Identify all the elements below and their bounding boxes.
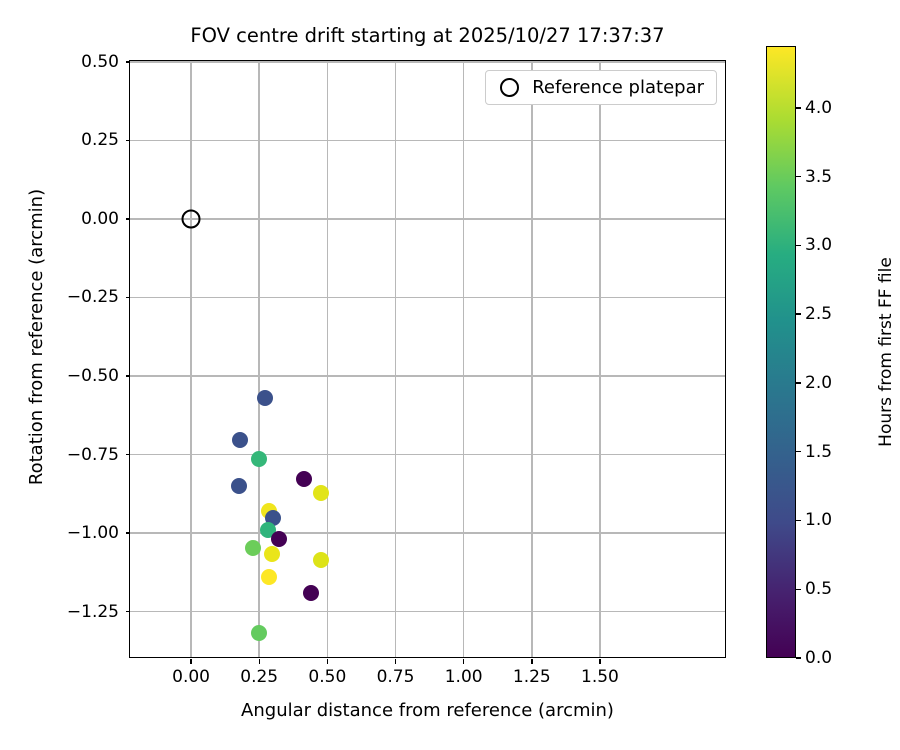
- gridline-vertical: [599, 61, 601, 657]
- gridline-vertical: [395, 61, 397, 657]
- y-tick-label: 0.50: [81, 52, 119, 72]
- colorbar-tick-label: 0.5: [805, 579, 832, 599]
- x-tick-label: 0.75: [377, 667, 415, 687]
- gridline-horizontal: [130, 532, 725, 534]
- colorbar-tick-label: 4.0: [805, 98, 832, 118]
- gridline-vertical: [463, 61, 465, 657]
- colorbar-tick-mark: [796, 313, 801, 314]
- colorbar-tick-mark: [796, 520, 801, 521]
- legend-item-label: Reference platepar: [532, 77, 704, 98]
- y-tick-mark: [126, 611, 131, 612]
- x-tick-label: 1.00: [445, 667, 483, 687]
- scatter-point: [261, 569, 277, 585]
- page-title: FOV centre drift starting at 2025/10/27 …: [129, 24, 726, 47]
- y-tick-label: −0.50: [67, 366, 119, 386]
- colorbar-tick-label: 0.0: [805, 648, 832, 668]
- gridline-vertical: [258, 61, 260, 657]
- figure-canvas: FOV centre drift starting at 2025/10/27 …: [0, 0, 900, 750]
- x-tick-label: 1.25: [513, 667, 551, 687]
- colorbar-tick-label: 3.0: [805, 235, 832, 255]
- colorbar-tick-mark: [796, 589, 801, 590]
- y-tick-mark: [126, 218, 131, 219]
- y-tick-mark: [126, 140, 131, 141]
- colorbar-tick-label: 3.5: [805, 167, 832, 187]
- x-tick-mark: [190, 659, 191, 664]
- colorbar-tick-mark: [796, 382, 801, 383]
- plot-area: [130, 61, 725, 657]
- gridline-horizontal: [130, 218, 725, 220]
- colorbar-label: Hours from first FF file: [876, 46, 896, 658]
- scatter-point: [257, 390, 273, 406]
- y-axis-label: Rotation from reference (arcmin): [26, 38, 47, 636]
- gridline-horizontal: [130, 140, 725, 142]
- x-tick-mark: [531, 659, 532, 664]
- gridline-horizontal: [130, 454, 725, 456]
- colorbar-tick-mark: [796, 245, 801, 246]
- colorbar-tick-label: 2.5: [805, 304, 832, 324]
- colorbar-tick-mark: [796, 176, 801, 177]
- gridline-horizontal: [130, 611, 725, 613]
- scatter-point: [296, 471, 312, 487]
- scatter-point: [231, 478, 247, 494]
- scatter-point: [313, 552, 329, 568]
- x-tick-label: 1.50: [581, 667, 619, 687]
- scatter-point: [303, 585, 319, 601]
- y-tick-mark: [126, 61, 131, 62]
- y-tick-label: −0.75: [67, 445, 119, 465]
- plot-axes: 0.000.250.500.751.001.251.50 0.500.250.0…: [129, 60, 726, 658]
- x-tick-mark: [327, 659, 328, 664]
- x-tick-label: 0.00: [172, 667, 210, 687]
- x-axis-label: Angular distance from reference (arcmin): [129, 700, 726, 721]
- colorbar-tick-label: 1.5: [805, 442, 832, 462]
- y-tick-label: 0.00: [81, 209, 119, 229]
- x-tick-mark: [259, 659, 260, 664]
- scatter-point: [264, 546, 280, 562]
- y-tick-label: −0.25: [67, 287, 119, 307]
- scatter-point: [313, 485, 329, 501]
- y-tick-label: −1.25: [67, 602, 119, 622]
- colorbar: [766, 46, 796, 658]
- gridline-vertical: [531, 61, 533, 657]
- colorbar-tick-mark: [796, 657, 801, 658]
- x-tick-mark: [463, 659, 464, 664]
- reference-platepar-point: [182, 209, 201, 228]
- scatter-point: [271, 531, 287, 547]
- scatter-point: [251, 625, 267, 641]
- x-tick-label: 0.50: [308, 667, 346, 687]
- y-tick-mark: [126, 454, 131, 455]
- scatter-point: [232, 432, 248, 448]
- y-tick-mark: [126, 375, 131, 376]
- gridline-vertical: [190, 61, 192, 657]
- y-tick-mark: [126, 532, 131, 533]
- gridline-horizontal: [130, 61, 725, 63]
- colorbar-tick-label: 1.0: [805, 510, 832, 530]
- y-tick-mark: [126, 297, 131, 298]
- x-tick-label: 0.25: [240, 667, 278, 687]
- scatter-point: [251, 451, 267, 467]
- colorbar-tick-label: 2.0: [805, 373, 832, 393]
- gridline-horizontal: [130, 375, 725, 377]
- gridline-horizontal: [130, 297, 725, 299]
- legend[interactable]: Reference platepar: [485, 70, 717, 105]
- y-tick-label: 0.25: [81, 130, 119, 150]
- scatter-point: [245, 540, 261, 556]
- colorbar-tick-mark: [796, 107, 801, 108]
- x-tick-mark: [599, 659, 600, 664]
- gridline-vertical: [327, 61, 329, 657]
- colorbar-tick-mark: [796, 451, 801, 452]
- x-tick-mark: [395, 659, 396, 664]
- y-tick-label: −1.00: [67, 523, 119, 543]
- reference-platepar-marker-icon: [500, 78, 519, 97]
